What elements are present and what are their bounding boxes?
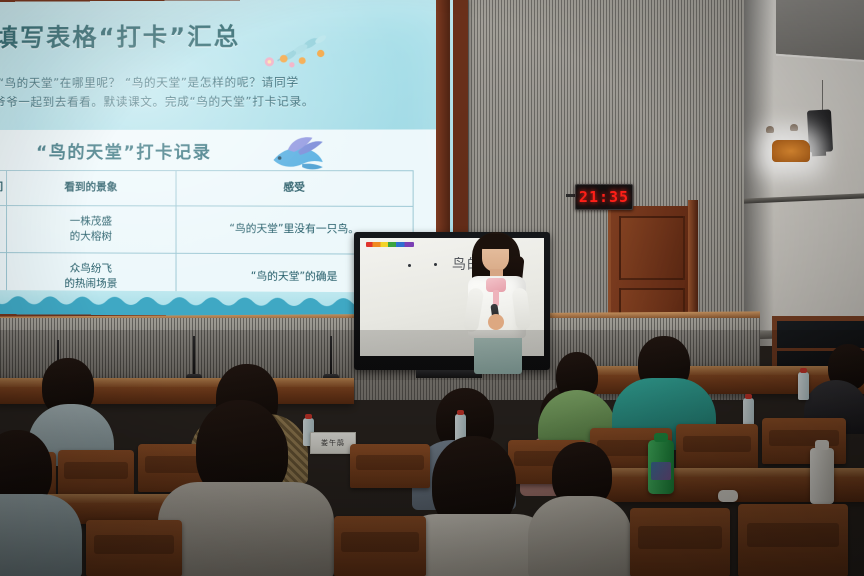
- table-header-feeling: 感受: [176, 171, 413, 207]
- auditorium-chair[interactable]: [630, 508, 730, 576]
- ceiling-panel: [776, 0, 864, 64]
- bottle-cap: [800, 368, 807, 373]
- table-header-scene: 看到的景象: [6, 171, 176, 206]
- auditorium-chair[interactable]: [58, 450, 134, 498]
- table-row: 傍晚 一株茂盛 的大榕树 “鸟的天堂”里没有一只鸟。: [0, 205, 413, 254]
- small-white-object: [718, 490, 738, 502]
- water-bottle[interactable]: [798, 372, 809, 400]
- cell-scene-line-1: 一株茂盛: [9, 214, 174, 230]
- green-thermos-bottle[interactable]: [648, 440, 674, 494]
- side-wall-shadow: [744, 0, 774, 346]
- bottle-cap: [457, 410, 464, 415]
- white-thermos-bottle[interactable]: [810, 448, 834, 504]
- whiteboard-dot-marker: [408, 264, 411, 267]
- flower-sprig-icon: [239, 34, 331, 69]
- slide-body-line-2: 金爷爷一起到去看看。默读课文。完成“鸟的天堂”打卡记录。: [0, 92, 443, 112]
- bottle-cap: [305, 414, 312, 419]
- audience-body-front: [0, 494, 82, 576]
- audience-body-front: [158, 482, 334, 576]
- name-placard-text: 娄午鹃: [321, 438, 345, 448]
- table-header-row: 打卡 时间 看到的景象 感受: [0, 170, 413, 206]
- desk-surface: [560, 366, 864, 375]
- record-table: 打卡 时间 看到的景象 感受 傍晚 一株茂盛 的大榕树 “鸟的天堂”里没有一只鸟…: [0, 170, 414, 303]
- speaker-cable: [822, 80, 823, 112]
- spotlight-icon: [790, 124, 798, 131]
- speaker-bracket: [812, 150, 826, 157]
- thermos-label: [651, 462, 671, 480]
- card-title: “鸟的天堂”打卡记录: [36, 138, 211, 163]
- audience-body-front: [528, 496, 632, 576]
- desk-microphone-icon: [330, 336, 332, 376]
- auditorium-chair[interactable]: [350, 444, 430, 488]
- desk-microphone-icon: [193, 336, 195, 376]
- auditorium-chair[interactable]: [334, 516, 426, 576]
- thermos-cap: [654, 433, 668, 442]
- led-clock-digits: 21:35: [579, 188, 629, 206]
- auditorium-chair[interactable]: [738, 504, 848, 576]
- animal-wall-art: [772, 140, 810, 162]
- auditorium-chair[interactable]: [86, 520, 182, 576]
- door-panel-upper: [619, 216, 685, 280]
- cell-scene-line-1: 众鸟纷飞: [9, 261, 174, 277]
- slide-body-text: “鸟的天堂”在哪里呢？ “鸟的天堂”是怎样的呢？请同学 金爷爷一起到去看看。默读…: [0, 72, 443, 112]
- whiteboard-dot-marker: [434, 263, 437, 266]
- classroom-scene: 21:35 填写表格“打卡”汇总 “鸟的天堂”在哪里呢？ “鸟的天堂”是怎: [0, 0, 864, 576]
- card-edge-top: [0, 124, 443, 132]
- presenter-hand: [488, 314, 504, 330]
- presenter-fringe: [479, 234, 512, 249]
- slide-heading: 填写表格“打卡”汇总: [0, 16, 240, 52]
- auditorium-chair[interactable]: [676, 424, 758, 470]
- cell-scene-line-2: 的大榕树: [9, 229, 174, 245]
- color-palette-toolbar-icon[interactable]: [366, 242, 414, 247]
- spotlight-icon: [766, 126, 774, 133]
- presenter-skirt: [474, 332, 522, 374]
- wall-speaker-icon: [807, 109, 833, 152]
- bottle-cap: [745, 394, 752, 399]
- led-clock: 21:35: [575, 184, 633, 210]
- presenter-student: [452, 226, 544, 372]
- slide-body-line-1: “鸟的天堂”在哪里呢？ “鸟的天堂”是怎样的呢？请同学: [0, 72, 443, 93]
- cell-scene: 一株茂盛 的大榕树: [6, 206, 176, 254]
- thermos-cap: [815, 440, 829, 450]
- water-bottle[interactable]: [743, 398, 754, 426]
